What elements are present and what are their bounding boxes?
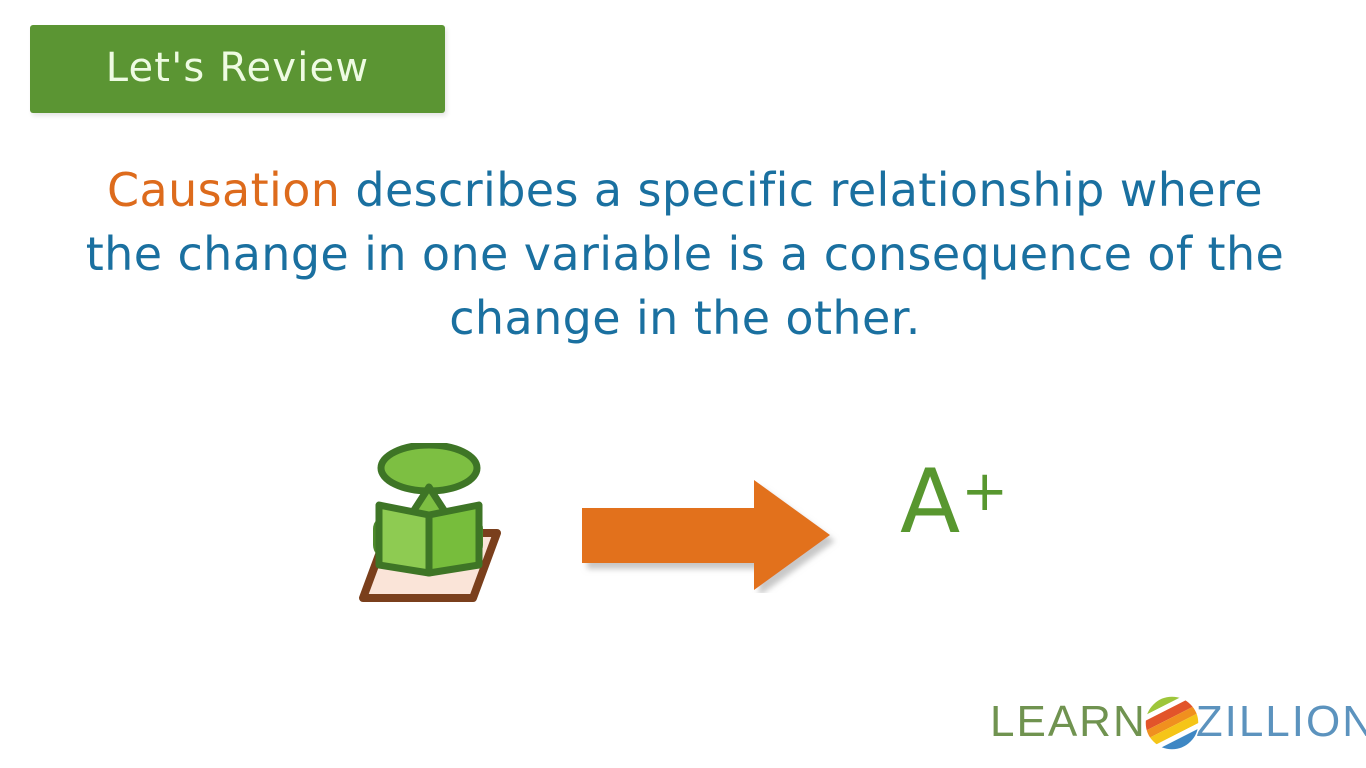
grade-a-plus: A+ [900,458,1070,578]
book-left-page [379,505,429,573]
lets-review-banner: Let's Review [30,25,445,113]
right-arrow-icon [578,478,840,593]
arrow-shape [582,480,830,590]
logo-zillion-text: ZILLION [1196,700,1366,744]
lets-review-label: Let's Review [30,48,445,88]
slide-canvas: Let's Review Causation describes a speci… [0,0,1366,768]
definition-statement: Causation describes a specific relations… [70,158,1300,350]
learnzillion-logo: LEARN [990,694,1366,750]
logo-learn-text: LEARN [990,700,1147,744]
globe-stripes [1143,694,1201,752]
student-reading-book-icon [345,443,505,608]
grade-modifier: + [961,459,1009,524]
book-right-page [429,505,479,573]
globe-icon [1143,694,1201,752]
grade-letter: A [900,450,961,553]
keyword-causation: Causation [107,163,340,217]
